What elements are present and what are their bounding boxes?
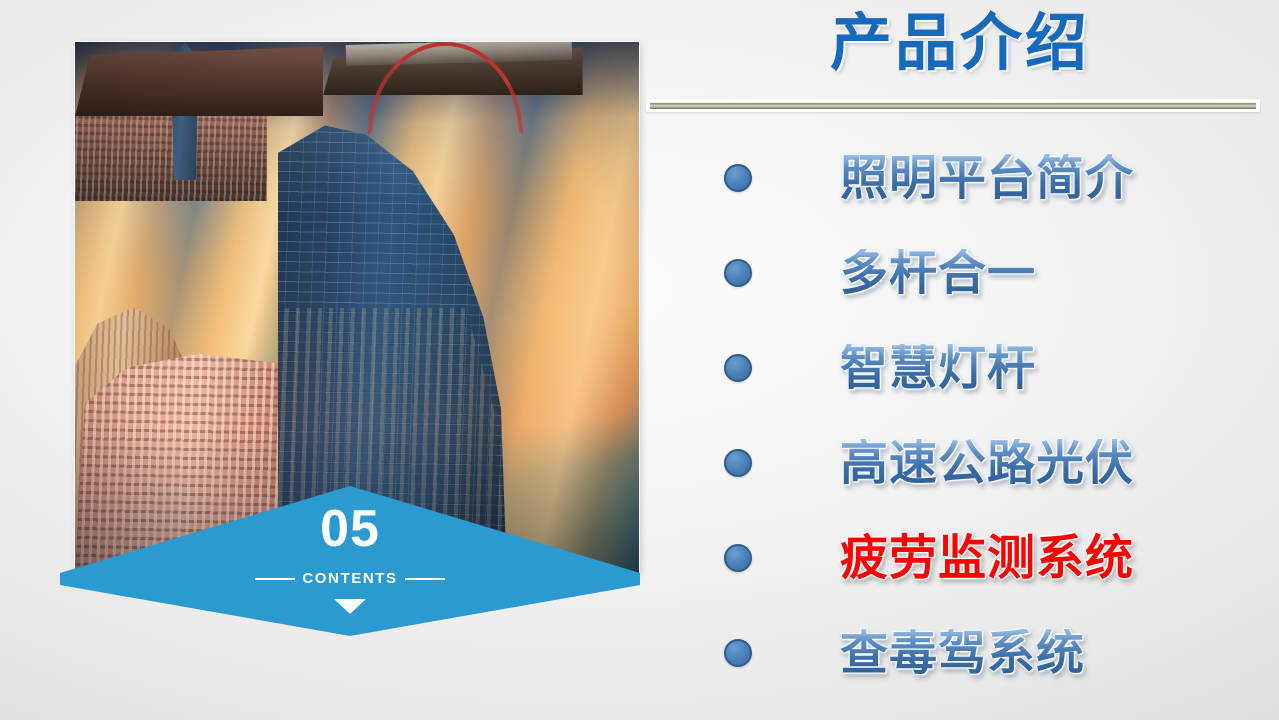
list-item-highlighted[interactable]: 疲劳监测系统: [660, 510, 1260, 605]
page-title: 产品介绍: [660, 6, 1260, 79]
contents-badge: 05 CONTENTS: [60, 486, 640, 636]
agenda-item-label: 高速公路光伏: [840, 439, 1134, 487]
presentation-slide: 05 CONTENTS 产品介绍 照明平台简介 多杆合一 智慧灯杆 高速公路光伏: [0, 0, 1279, 720]
list-item[interactable]: 智慧灯杆: [660, 320, 1260, 415]
contents-rule-left: [255, 578, 295, 580]
list-item[interactable]: 查毒驾系统: [660, 605, 1260, 700]
bullet-dot-icon: [724, 164, 752, 192]
list-item[interactable]: 照明平台简介: [660, 130, 1260, 225]
bullet-dot-icon: [724, 259, 752, 287]
bullet-dot-icon: [724, 354, 752, 382]
bullet-dot-icon: [724, 449, 752, 477]
agenda-item-label: 多杆合一: [840, 249, 1036, 297]
agenda-item-label: 照明平台简介: [840, 154, 1134, 202]
bullet-dot-icon: [724, 544, 752, 572]
bullet-dot-icon: [724, 639, 752, 667]
agenda-item-label: 查毒驾系统: [840, 629, 1085, 677]
contents-number: 05: [60, 503, 640, 555]
contents-rule-right: [405, 578, 445, 580]
contents-label: CONTENTS: [302, 570, 397, 587]
agenda-list: 照明平台简介 多杆合一 智慧灯杆 高速公路光伏 疲劳监测系统 查毒驾系统: [660, 130, 1260, 700]
list-item[interactable]: 高速公路光伏: [660, 415, 1260, 510]
list-item[interactable]: 多杆合一: [660, 225, 1260, 320]
contents-label-row: CONTENTS: [60, 570, 640, 587]
title-divider: [646, 99, 1260, 112]
caret-down-icon: [334, 599, 366, 614]
agenda-item-label: 智慧灯杆: [840, 344, 1036, 392]
agenda-item-label-highlighted: 疲劳监测系统: [840, 534, 1134, 582]
